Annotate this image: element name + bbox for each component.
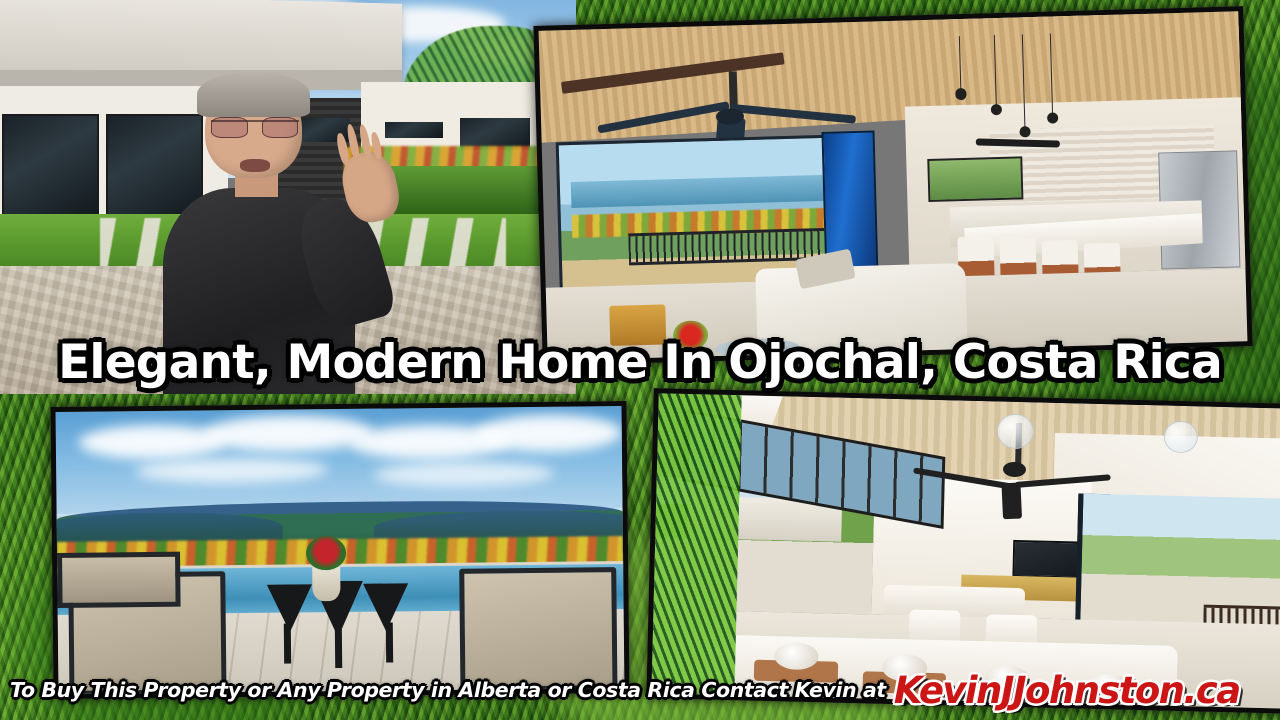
video-thumbnail: Elegant, Modern Home In Ojochal, Costa R… [0,0,1280,720]
photo-dining-great-room [646,388,1280,714]
photo-living-kitchen-content [539,11,1248,360]
thumbnail-title: Elegant, Modern Home In Ojochal, Costa R… [0,339,1280,386]
photo-dining-great-room-content [651,393,1280,709]
photo-pool-terrace-content [56,406,625,694]
photo-living-kitchen [533,6,1252,366]
contact-text: To Buy This Property or Any Property in … [10,678,886,702]
brand-website[interactable]: KevinJJohnston.ca [894,669,1240,712]
photo-pool-terrace [50,401,629,699]
contact-bar: To Buy This Property or Any Property in … [0,668,1280,712]
